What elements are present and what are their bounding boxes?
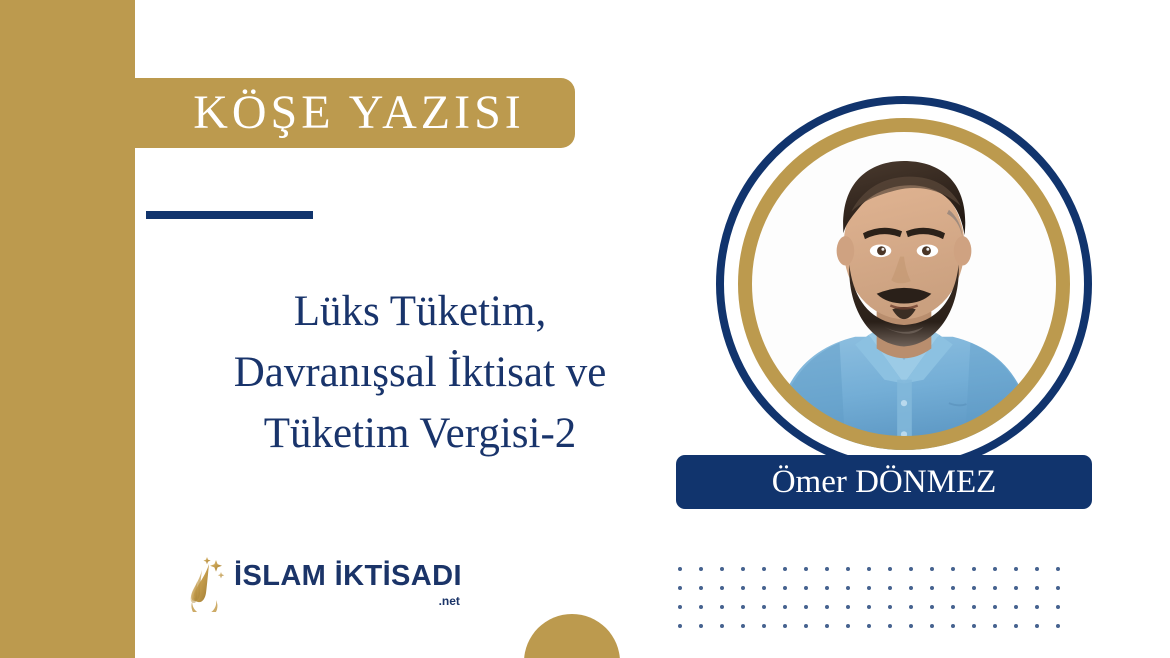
- article-title-line-2: Davranışsal İktisat ve: [140, 342, 700, 403]
- brand-name: İSLAM İKTİSADI: [234, 562, 462, 591]
- portrait-gold-ring: [738, 118, 1070, 450]
- dot-grid-decor: [677, 566, 1077, 641]
- author-name: Ömer DÖNMEZ: [772, 466, 997, 499]
- kose-yazisi-article-card: KÖŞE YAZISI Lüks Tüketim, Davranışsal İk…: [0, 0, 1170, 658]
- kicker-label: KÖŞE YAZISI: [185, 89, 525, 137]
- gold-semicircle-decor: [524, 614, 620, 658]
- author-name-plate: Ömer DÖNMEZ: [676, 455, 1092, 509]
- article-title: Lüks Tüketim, Davranışsal İktisat ve Tük…: [140, 281, 700, 464]
- author-portrait-frame: [716, 96, 1092, 472]
- kicker-banner: KÖŞE YAZISI: [96, 78, 575, 148]
- brand-tld: .net: [234, 595, 462, 607]
- gold-calligraphic-flame-icon: [186, 556, 230, 612]
- article-title-line-1: Lüks Tüketim,: [140, 281, 700, 342]
- navy-rule-divider: [146, 211, 313, 219]
- article-title-line-3: Tüketim Vergisi-2: [140, 403, 700, 464]
- brand-wordmark: İSLAM İKTİSADI .net: [234, 562, 462, 607]
- brand-logo[interactable]: İSLAM İKTİSADI .net: [186, 556, 462, 612]
